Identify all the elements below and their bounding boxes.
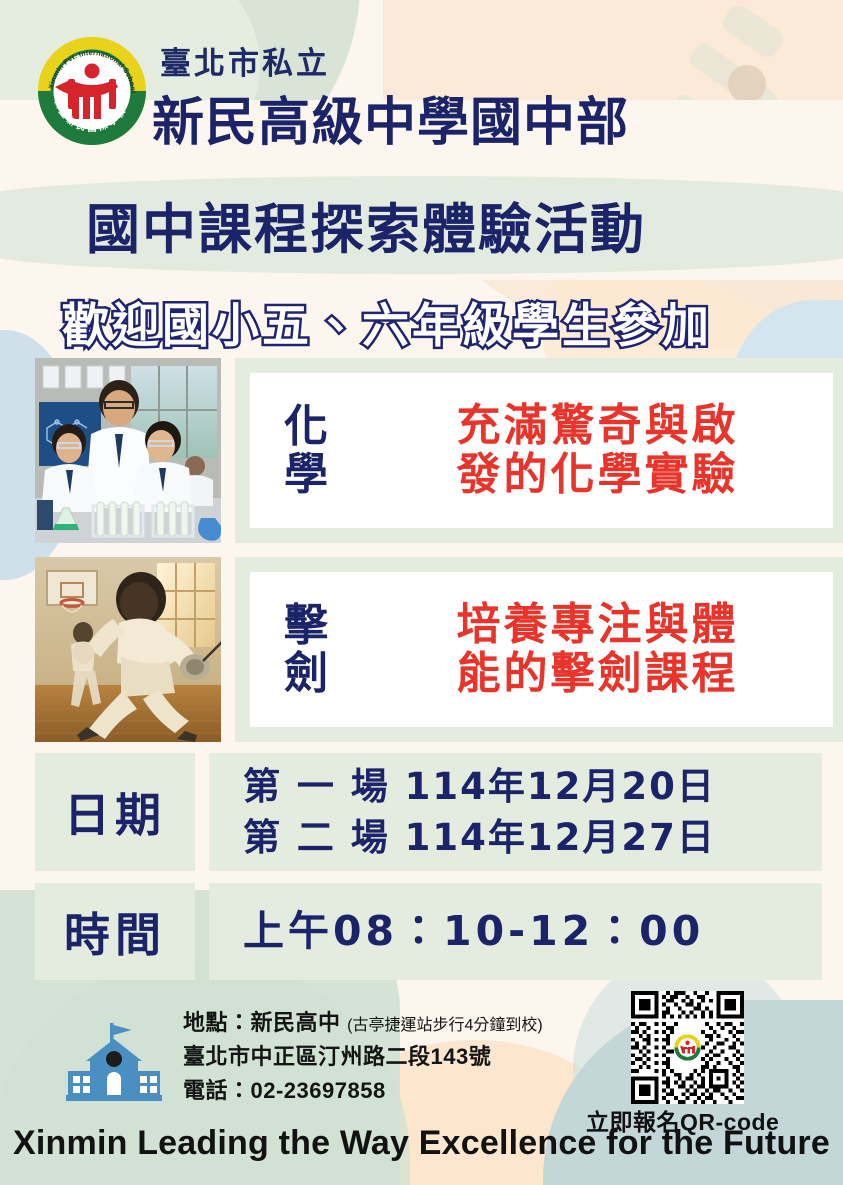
school-building-icon (62, 1023, 167, 1105)
fencing-description: 培養專注與體 能的擊劍課程 (362, 601, 833, 698)
chemistry-desc-line-2: 發的化學實驗 (362, 451, 833, 499)
phone-line: 電話：02-23697858 (183, 1074, 543, 1108)
qr-code-image[interactable] (631, 991, 744, 1104)
fencing-subject: 擊 劍 (250, 602, 362, 697)
date-session-1: 第 一 場 114年12月20日 (243, 761, 716, 812)
event-title: 國中課程探索體驗活動 (86, 185, 646, 264)
welcome-subtitle: 歡迎國小五、六年級學生參加 (62, 287, 712, 356)
poster-header: Xinmin Pvt. International School 私立新民國際學… (0, 0, 843, 175)
chemistry-text-panel: 化 學 充滿驚奇與啟 發的化學實驗 (235, 358, 843, 543)
contact-info: 地點：新民高中 (古亭捷運站步行4分鐘到校) 臺北市中正區汀州路二段143號 電… (183, 1006, 543, 1108)
fencing-photo (35, 557, 221, 742)
fencing-desc-line-2: 能的擊劍課程 (362, 650, 833, 698)
date-label: 日期 (35, 753, 195, 871)
chemistry-description: 充滿驚奇與啟 發的化學實驗 (362, 402, 833, 499)
fencing-text-panel: 擊 劍 培養專注與體 能的擊劍課程 (235, 557, 843, 742)
chemistry-subject-char-1: 化 (250, 403, 362, 451)
address-line: 臺北市中正區汀州路二段143號 (183, 1040, 543, 1074)
course-card-fencing: 擊 劍 培養專注與體 能的擊劍課程 (35, 557, 843, 742)
city-title: 臺北市私立 (160, 38, 330, 83)
poster-root: Xinmin Pvt. International School 私立新民國際學… (0, 0, 843, 1185)
fencing-subject-char-1: 擊 (250, 602, 362, 650)
xinmin-school-crest-logo: Xinmin Pvt. International School 私立新民國際學… (37, 36, 147, 146)
venue-label: 地點：新民高中 (183, 1010, 341, 1035)
fencing-desc-line-1: 培養專注與體 (362, 601, 833, 649)
school-tagline: Xinmin Leading the Way Excellence for th… (0, 1124, 843, 1163)
info-row-date: 日期 第 一 場 114年12月20日 第 二 場 114年12月27日 (35, 753, 822, 871)
chemistry-photo (35, 358, 221, 543)
chemistry-subject: 化 學 (250, 403, 362, 498)
chemistry-subject-char-2: 學 (250, 451, 362, 499)
school-title: 新民高級中學國中部 (152, 80, 629, 155)
info-row-time: 時間 上午08：10-12：00 (35, 883, 822, 980)
time-range: 上午08：10-12：00 (243, 903, 704, 960)
time-label: 時間 (35, 883, 195, 980)
venue-line: 地點：新民高中 (古亭捷運站步行4分鐘到校) (183, 1006, 543, 1040)
registration-qr-code[interactable] (631, 991, 744, 1104)
course-card-chemistry: 化 學 充滿驚奇與啟 發的化學實驗 (35, 358, 843, 543)
date-session-2: 第 二 場 114年12月27日 (243, 812, 716, 863)
date-values: 第 一 場 114年12月20日 第 二 場 114年12月27日 (209, 753, 822, 871)
venue-note: (古亭捷運站步行4分鐘到校) (347, 1017, 543, 1034)
chemistry-desc-line-1: 充滿驚奇與啟 (362, 402, 833, 450)
fencing-subject-char-2: 劍 (250, 650, 362, 698)
time-values: 上午08：10-12：00 (209, 883, 822, 980)
